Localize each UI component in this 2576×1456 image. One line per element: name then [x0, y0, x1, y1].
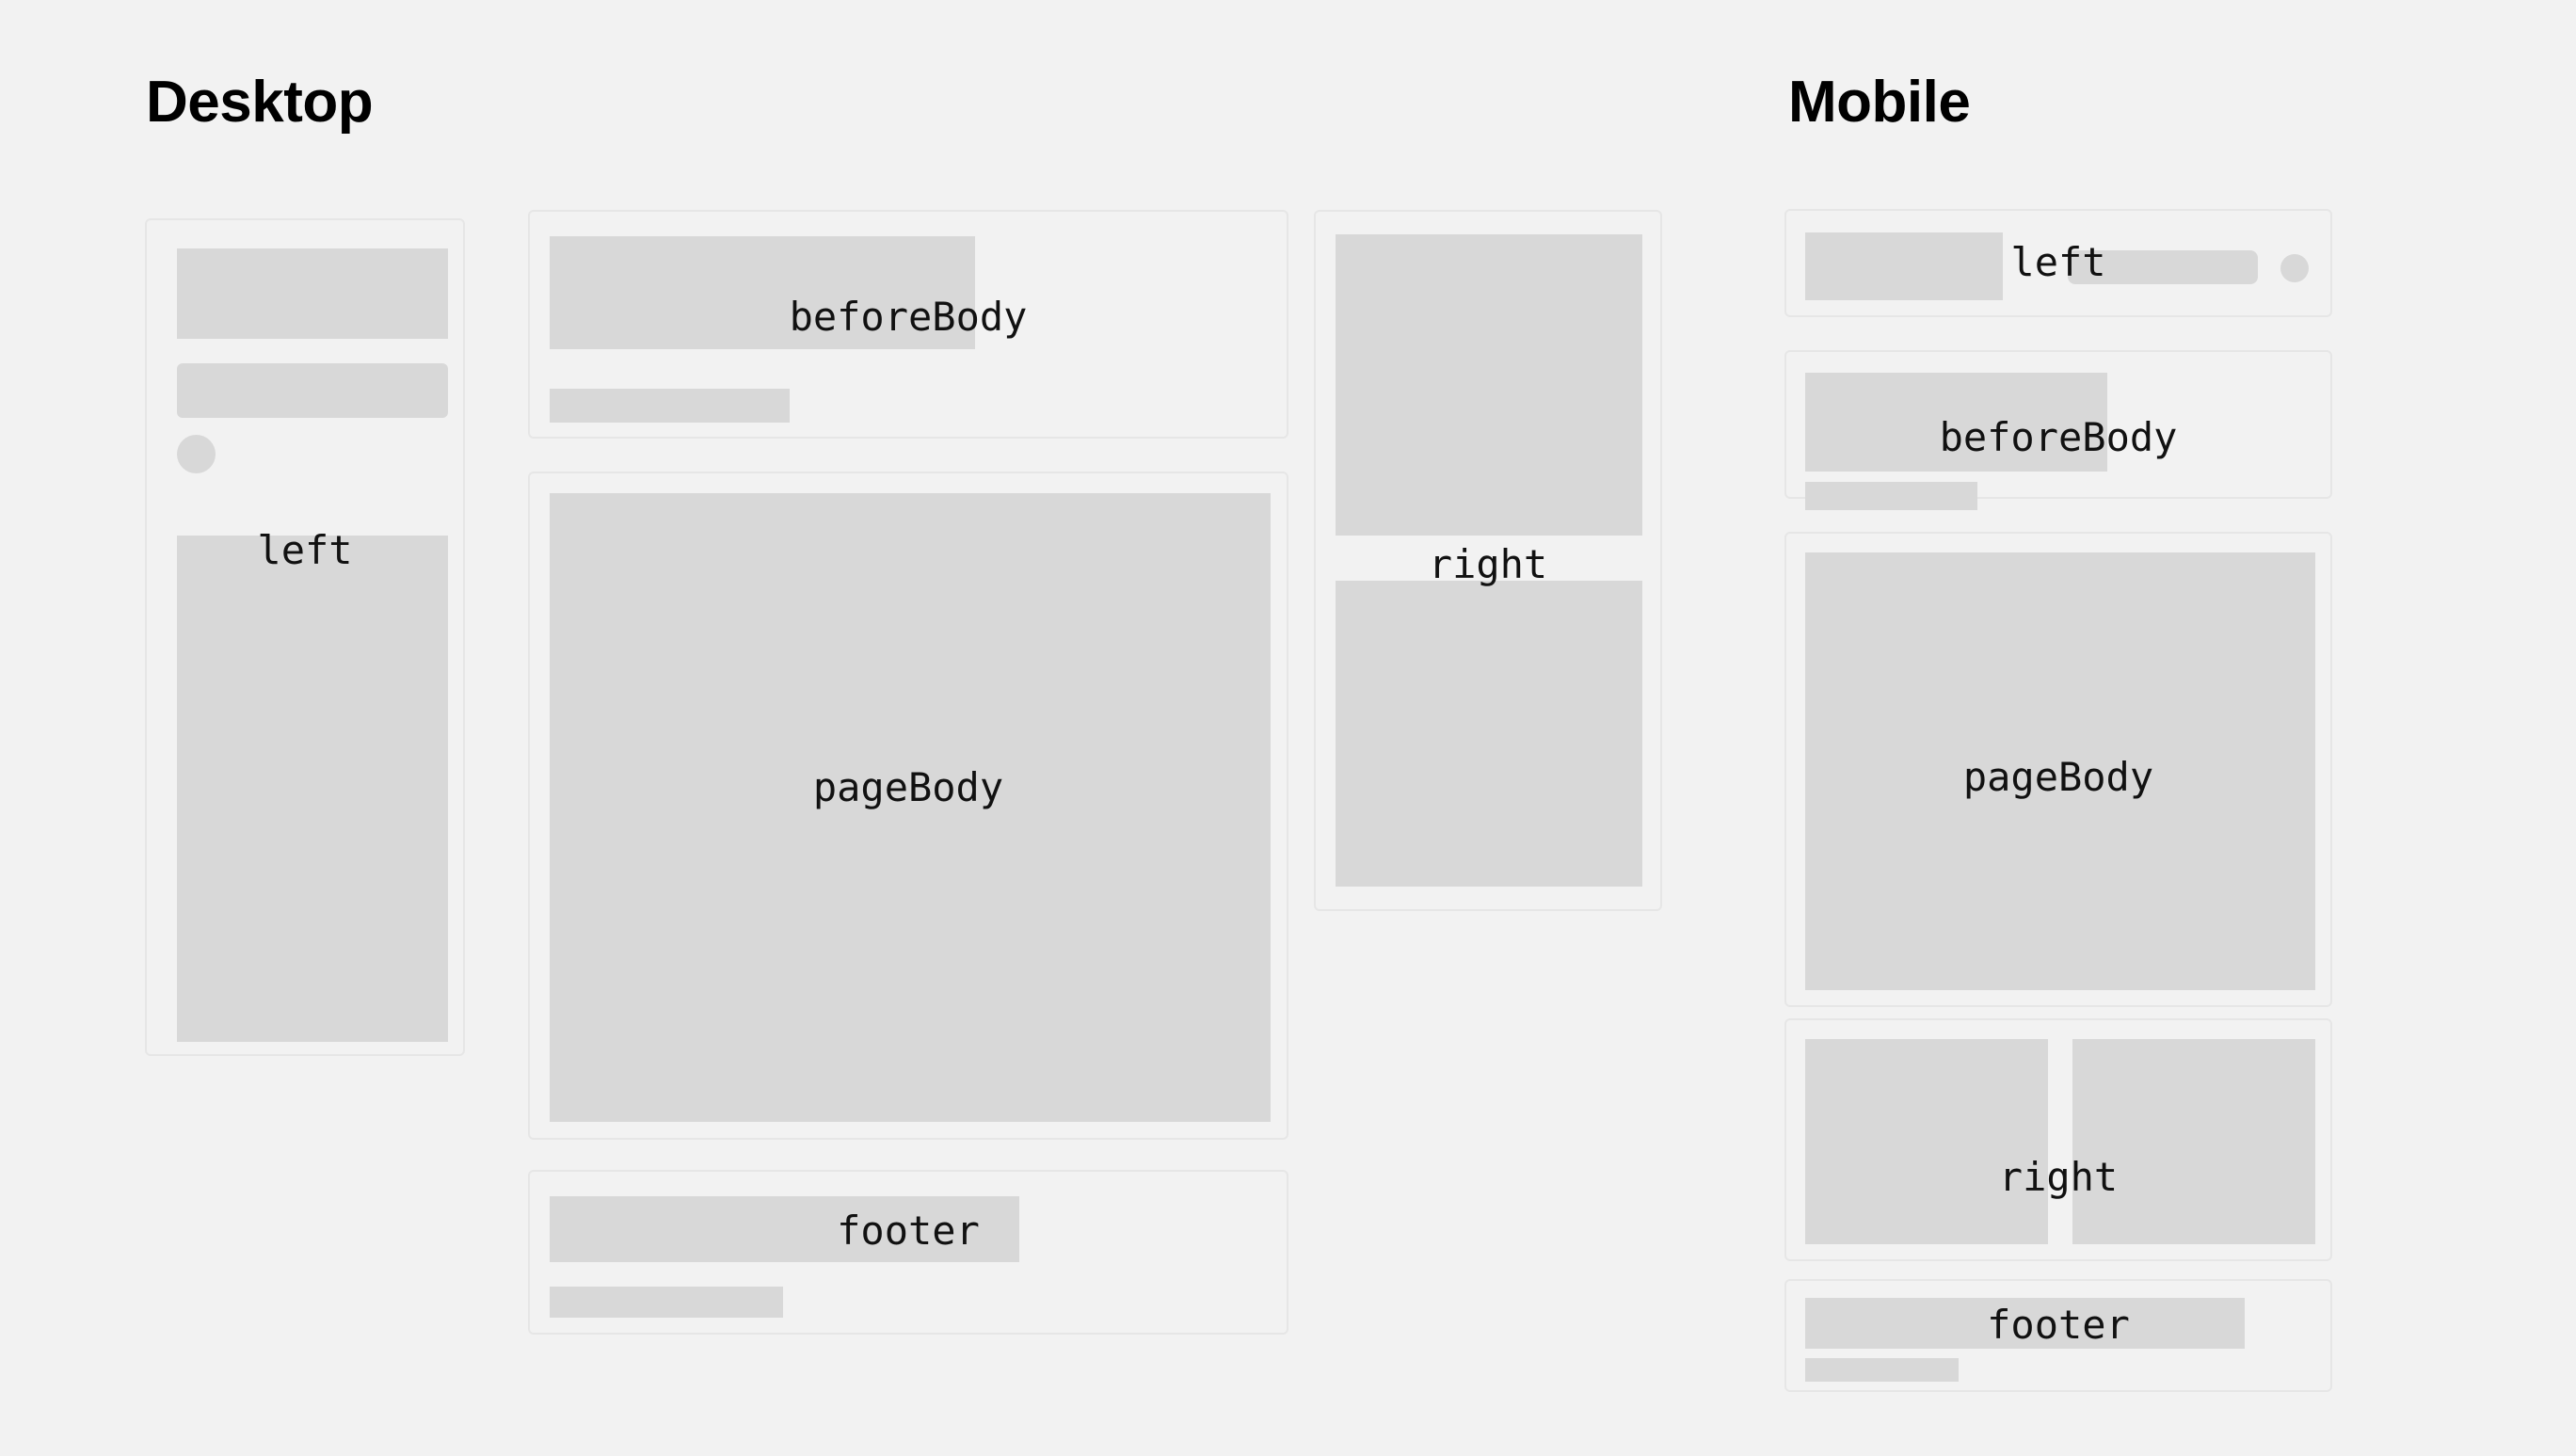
desktop-region-footer[interactable]	[528, 1170, 1288, 1335]
placeholder-block	[1805, 552, 2315, 990]
placeholder-bar	[2068, 250, 2258, 284]
placeholder-block	[177, 536, 448, 1042]
mobile-region-before-body[interactable]	[1784, 350, 2332, 499]
mobile-section-title: Mobile	[1788, 73, 1970, 132]
placeholder-block	[177, 248, 448, 339]
placeholder-bar	[1805, 1358, 1959, 1382]
desktop-region-left[interactable]	[145, 218, 465, 1056]
placeholder-block	[550, 1196, 1019, 1262]
desktop-region-page-body[interactable]	[528, 472, 1288, 1140]
mobile-region-left[interactable]	[1784, 209, 2332, 317]
placeholder-bar	[1805, 482, 1977, 510]
placeholder-bar	[177, 363, 448, 418]
placeholder-block	[1805, 232, 2003, 300]
placeholder-bar	[550, 389, 790, 423]
placeholder-block	[1805, 1298, 2245, 1349]
placeholder-bar	[550, 1287, 783, 1318]
placeholder-block	[1805, 373, 2107, 472]
desktop-region-before-body[interactable]	[528, 210, 1288, 439]
placeholder-block	[550, 493, 1271, 1122]
placeholder-block	[550, 236, 975, 349]
mobile-region-footer[interactable]	[1784, 1279, 2332, 1392]
placeholder-dot-icon	[2280, 254, 2309, 282]
placeholder-block	[1336, 234, 1642, 536]
mobile-region-page-body[interactable]	[1784, 532, 2332, 1007]
desktop-section-title: Desktop	[146, 73, 373, 132]
placeholder-dot-icon	[177, 435, 216, 473]
mobile-region-right[interactable]	[1784, 1018, 2332, 1261]
placeholder-block	[1805, 1039, 2048, 1244]
desktop-region-right[interactable]	[1314, 210, 1662, 911]
placeholder-block	[2072, 1039, 2315, 1244]
placeholder-block	[1336, 581, 1642, 887]
